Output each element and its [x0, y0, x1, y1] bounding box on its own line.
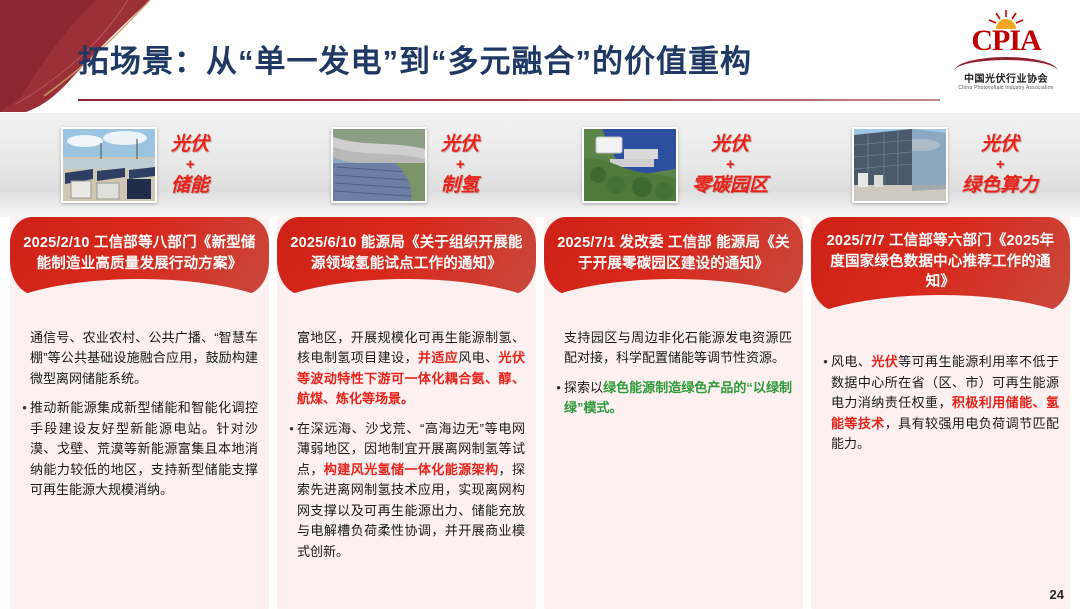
policy-card-body: •推动“光伏+储能”系统在城市照 明、交通信号、农业农村、公共广播、“智慧车棚”…	[10, 295, 269, 609]
logo-name-en: China Photovoltaic Industry Association	[950, 85, 1062, 91]
text-run: 风电、	[458, 350, 498, 365]
scenario-label-zero-carbon-park: 光伏 + 零碳园区	[692, 133, 768, 198]
text-run: 推动新能源集成新型储能和智能化调控手段建设友好型新能源电站。针对沙漠、戈壁、荒漠…	[30, 400, 258, 497]
policy-bullet-text: 探索以绿色能源制造绿色产品的“以绿制绿”模式。	[564, 378, 792, 419]
policy-bullet: •探索以绿色能源制造绿色产品的“以绿制绿”模式。	[553, 378, 792, 419]
policy-card-header: 2025/2/10 工信部等八部门《新型储能制造业高质量发展行动方案》	[10, 217, 269, 295]
pv-green-computing-thumbnail	[852, 127, 948, 203]
slide-header: 拓场景：从“单一发电”到“多元融合”的价值重构 CPIA 中国光伏行业协会 Ch…	[0, 0, 1080, 112]
scenario-label-pv-hydrogen: 光伏 + 制氢	[441, 133, 479, 198]
pv-zero-carbon-park-thumbnail	[582, 127, 678, 203]
policy-card-body: •在风、光、水电、核电、生物质资源丰富地区，开展规模化可再生能源制氢、核电制氢项…	[277, 295, 536, 609]
scenario-label-green-computing: 光伏 + 绿色算力	[962, 133, 1038, 198]
policy-bullet-list: •风电、光伏等可再生能源利用率不低于数据中心所在省（区、市）可再生能源电力消纳责…	[820, 352, 1059, 455]
page-title: 拓场景：从“单一发电”到“多元融合”的价值重构	[78, 36, 752, 81]
scenario-cell-green-computing: 光伏 + 绿色算力	[810, 113, 1080, 217]
scenario-label-bottom: 零碳园区	[692, 175, 768, 196]
policy-card-body: •加强园区及周边可再生能源开发利用，支持园区与周边非化石能源发电资源匹配对接，科…	[544, 295, 803, 609]
scenario-label-plus: +	[171, 156, 209, 174]
scenario-label-top: 光伏	[711, 134, 749, 155]
scenario-label-top: 光伏	[441, 134, 479, 155]
policy-bullet-list: •在风、光、水电、核电、生物质资源丰富地区，开展规模化可再生能源制氢、核电制氢项…	[286, 307, 525, 562]
pv-storage-thumbnail	[61, 127, 157, 203]
logo-name-cn: 中国光伏行业协会	[950, 74, 1062, 85]
scenario-label-plus: +	[441, 156, 479, 174]
scenario-cell-pv-storage: 光伏 + 储能	[0, 113, 270, 217]
policy-card[interactable]: 2025/6/10 能源局《关于组织开展能源领域氢能试点工作的通知》 •在风、光…	[277, 217, 536, 609]
bullet-dot-icon: •	[553, 378, 564, 419]
policy-card-body: 要求推荐的数据中心应具备以下条件： •风电、光伏等可再生能源利用率不低于数据中心…	[811, 311, 1070, 609]
policy-bullet-text: 风电、光伏等可再生能源利用率不低于数据中心所在省（区、市）可再生能源电力消纳责任…	[831, 352, 1059, 455]
highlighted-text-run: 构建风光氢储一体化能源架构	[324, 462, 499, 477]
policy-bullet: •在深远海、沙戈荒、“高海边无”等电网薄弱地区，因地制宜开展离网制氢等试点，构建…	[286, 419, 525, 563]
scenario-image-strip: 光伏 + 储能	[0, 112, 1080, 217]
policy-bullet-list: •推动“光伏+储能”系统在城市照 明、交通信号、农业农村、公共广播、“智慧车棚”…	[19, 307, 258, 501]
scenario-label-bottom: 储能	[171, 175, 209, 196]
scenario-cell-pv-hydrogen: 光伏 + 制氢	[270, 113, 540, 217]
policy-bullet-text: 在深远海、沙戈荒、“高海边无”等电网薄弱地区，因地制宜开展离网制氢等试点，构建风…	[297, 419, 525, 563]
bullet-dot-icon: •	[820, 352, 831, 455]
text-run: 风电、	[831, 354, 871, 369]
policy-card-header: 2025/7/7 工信部等六部门《2025年度国家绿色数据中心推荐工作的通知》	[811, 217, 1070, 311]
page-number: 24	[1050, 587, 1064, 602]
scenario-label-bottom: 制氢	[441, 175, 479, 196]
scenario-label-top: 光伏	[171, 134, 209, 155]
title-underline-rule	[78, 99, 940, 101]
logo-acronym: CPIA	[950, 26, 1062, 56]
policy-card-header: 2025/6/10 能源局《关于组织开展能源领域氢能试点工作的通知》	[277, 217, 536, 295]
policy-card[interactable]: 2025/7/7 工信部等六部门《2025年度国家绿色数据中心推荐工作的通知》 …	[811, 217, 1070, 609]
scenario-label-plus: +	[962, 156, 1038, 174]
policy-bullet: •推动新能源集成新型储能和智能化调控手段建设友好型新能源电站。针对沙漠、戈壁、荒…	[19, 398, 258, 501]
policy-bullet: •风电、光伏等可再生能源利用率不低于数据中心所在省（区、市）可再生能源电力消纳责…	[820, 352, 1059, 455]
scenario-label-top: 光伏	[981, 134, 1019, 155]
cpia-logo: CPIA 中国光伏行业协会 China Photovoltaic Industr…	[950, 4, 1062, 96]
pv-hydrogen-thumbnail	[331, 127, 427, 203]
text-run: 探索以	[564, 380, 603, 395]
bullet-dot-icon: •	[19, 398, 30, 501]
scenario-cell-zero-carbon-park: 光伏 + 零碳园区	[540, 113, 810, 217]
logo-arc-decoration	[954, 57, 1058, 74]
highlighted-text-run: 光伏	[871, 354, 898, 369]
scenario-label-plus: +	[692, 156, 768, 174]
policy-bullet-text: 推动新能源集成新型储能和智能化调控手段建设友好型新能源电站。针对沙漠、戈壁、荒漠…	[30, 398, 258, 501]
sun-burst-icon	[984, 10, 1028, 30]
bullet-dot-icon: •	[286, 419, 297, 563]
policy-card[interactable]: 2025/7/1 发改委 工信部 能源局《关于开展零碳园区建设的通知》 •加强园…	[544, 217, 803, 609]
scenario-label-bottom: 绿色算力	[962, 175, 1038, 196]
policy-card[interactable]: 2025/2/10 工信部等八部门《新型储能制造业高质量发展行动方案》 •推动“…	[10, 217, 269, 609]
policy-card-header: 2025/7/1 发改委 工信部 能源局《关于开展零碳园区建设的通知》	[544, 217, 803, 295]
scenario-label-pv-storage: 光伏 + 储能	[171, 133, 209, 198]
highlighted-text-run: 并适应	[418, 350, 458, 365]
policy-card-list: 2025/2/10 工信部等八部门《新型储能制造业高质量发展行动方案》 •推动“…	[0, 217, 1080, 609]
